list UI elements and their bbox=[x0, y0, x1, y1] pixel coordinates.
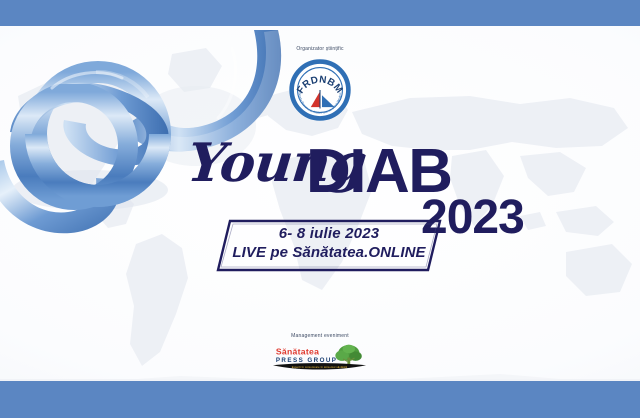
bottom-blue-bar bbox=[0, 379, 640, 418]
date-banner-text: 6- 8 iulie 2023 LIVE pe Sănătatea.ONLINE bbox=[216, 224, 442, 262]
sanatatea-press-group-logo: Sănătatea PRESS GROUP Experți în comunic… bbox=[272, 344, 368, 374]
svg-text:Sănătatea: Sănătatea bbox=[276, 347, 319, 357]
banner-live-line: LIVE pe Sănătatea.ONLINE bbox=[216, 243, 442, 262]
svg-text:PRESS GROUP: PRESS GROUP bbox=[276, 357, 338, 364]
svg-text:Experți în comunicare în domen: Experți în comunicare în domeniul sănătă… bbox=[292, 365, 348, 369]
top-blue-bar bbox=[0, 0, 640, 26]
event-poster: Organizator științific FRDNBM Federatia … bbox=[0, 0, 640, 418]
scientific-organizer-caption: Organizator științific bbox=[0, 46, 640, 52]
banner-date-line: 6- 8 iulie 2023 bbox=[216, 224, 442, 243]
frdnbm-logo: FRDNBM Federatia Romana de Diabet Nutrit… bbox=[287, 57, 353, 123]
event-management-caption: Management eveniment bbox=[0, 333, 640, 339]
